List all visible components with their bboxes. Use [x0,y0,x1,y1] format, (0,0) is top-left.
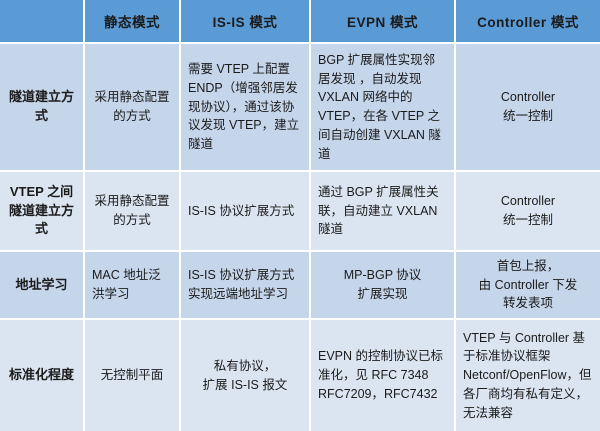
table-row: 地址学习 MAC 地址泛洪学习 IS-IS 协议扩展方式实现远端地址学习 MP-… [0,251,600,319]
cell-static-2: MAC 地址泛洪学习 [84,251,180,319]
table-body: 隧道建立方式 采用静态配置的方式 需要 VTEP 上配置 ENDP（增强邻居发现… [0,43,600,431]
cell-controller-0: Controller 统一控制 [455,43,600,171]
table-row: 隧道建立方式 采用静态配置的方式 需要 VTEP 上配置 ENDP（增强邻居发现… [0,43,600,171]
row-attribute-vtep-tunnel-setup: VTEP 之间隧道建立方式 [0,171,84,251]
header-cell-static-mode: 静态模式 [84,0,180,43]
cell-controller-1: Controller 统一控制 [455,171,600,251]
row-attribute-tunnel-setup: 隧道建立方式 [0,43,84,171]
vxlan-mode-comparison-table: 静态模式 IS-IS 模式 EVPN 模式 Controller 模式 隧道建立… [0,0,600,431]
header-cell-evpn-mode: EVPN 模式 [310,0,455,43]
header-cell-isis-mode: IS-IS 模式 [180,0,310,43]
cell-evpn-2: MP-BGP 协议 扩展实现 [310,251,455,319]
cell-isis-0: 需要 VTEP 上配置 ENDP（增强邻居发现协议），通过该协议发现 VTEP，… [180,43,310,171]
cell-isis-1: IS-IS 协议扩展方式 [180,171,310,251]
header-row: 静态模式 IS-IS 模式 EVPN 模式 Controller 模式 [0,0,600,43]
cell-evpn-0: BGP 扩展属性实现邻居发现 ，自动发现 VXLAN 网络中的 VTEP，在各 … [310,43,455,171]
table-row: VTEP 之间隧道建立方式 采用静态配置的方式 IS-IS 协议扩展方式 通过 … [0,171,600,251]
cell-isis-3: 私有协议， 扩展 IS-IS 报文 [180,319,310,431]
cell-static-0: 采用静态配置的方式 [84,43,180,171]
header-cell-corner [0,0,84,43]
cell-evpn-3: EVPN 的控制协议已标准化，见 RFC 7348 RFC7209，RFC743… [310,319,455,431]
row-attribute-standardization: 标准化程度 [0,319,84,431]
cell-static-3: 无控制平面 [84,319,180,431]
cell-controller-2: 首包上报， 由 Controller 下发 转发表项 [455,251,600,319]
header-cell-controller-mode: Controller 模式 [455,0,600,43]
cell-evpn-1: 通过 BGP 扩展属性关联，自动建立 VXLAN 隧道 [310,171,455,251]
cell-controller-3: VTEP 与 Controller 基于标准协议框架 Netconf/OpenF… [455,319,600,431]
cell-isis-2: IS-IS 协议扩展方式实现远端地址学习 [180,251,310,319]
table-header: 静态模式 IS-IS 模式 EVPN 模式 Controller 模式 [0,0,600,43]
table-row: 标准化程度 无控制平面 私有协议， 扩展 IS-IS 报文 EVPN 的控制协议… [0,319,600,431]
cell-static-1: 采用静态配置的方式 [84,171,180,251]
row-attribute-address-learning: 地址学习 [0,251,84,319]
